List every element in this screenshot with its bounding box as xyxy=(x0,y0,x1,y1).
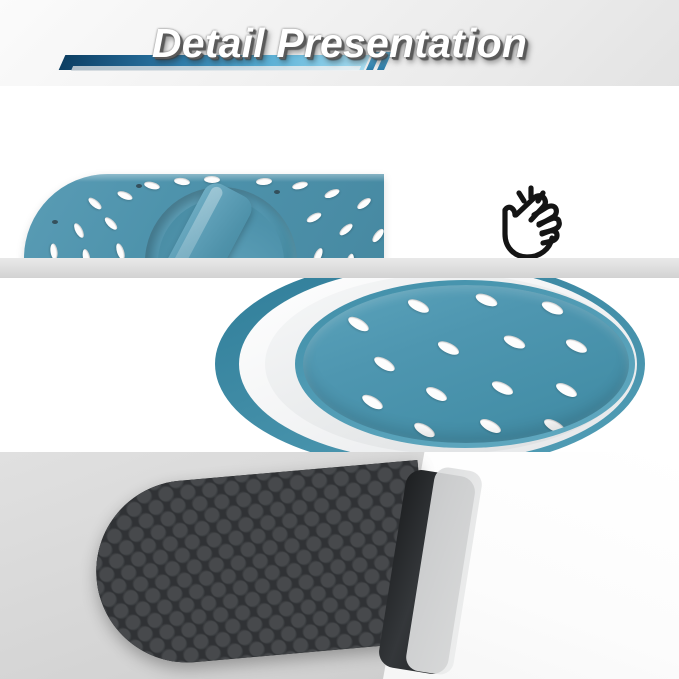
panel-handle: Handle for Grabing Easily xyxy=(0,86,679,258)
panel-vents: Vents to Release Steam xyxy=(0,278,679,452)
angled-blue-disc-image xyxy=(275,278,679,452)
page-header: Detail Presentation xyxy=(0,0,679,86)
panel-divider xyxy=(0,258,679,278)
disc-perforated-face xyxy=(303,285,629,443)
panel-grooves: Deep Grooves Heat Distribution immediate… xyxy=(0,452,679,679)
grabbing-hand-icon xyxy=(494,182,570,258)
detail-presentation-page: Detail Presentation xyxy=(0,0,679,679)
blue-perforated-lid-image xyxy=(24,174,384,258)
lid-recessed-well xyxy=(145,187,297,258)
page-title: Detail Presentation xyxy=(0,0,679,86)
feature-handle: Handle for Grabing Easily xyxy=(398,182,666,258)
